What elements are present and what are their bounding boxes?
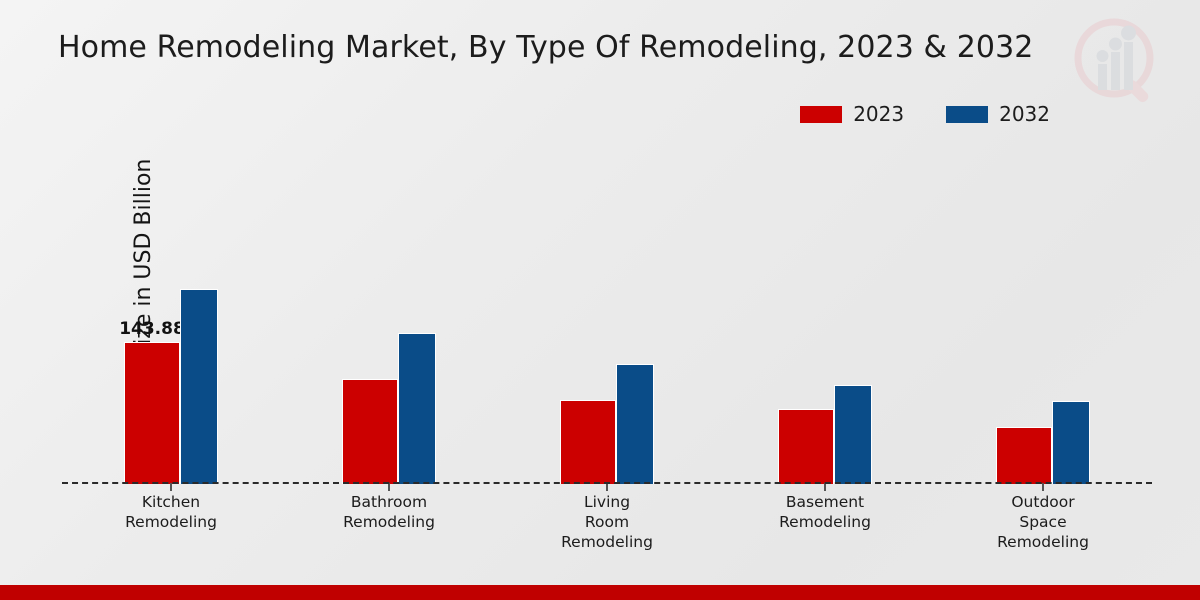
bar-2032-outdoor-space-remodeling[interactable] — [1052, 401, 1090, 484]
x-axis-tick — [606, 483, 608, 491]
x-label-line: Living — [498, 492, 716, 512]
legend-item-2023[interactable]: 2023 — [800, 102, 904, 126]
chart-legend: 2023 2032 — [800, 102, 1050, 126]
bar-group-living-room-remodeling — [498, 140, 716, 484]
bar-2023-bathroom-remodeling[interactable] — [342, 379, 398, 484]
legend-item-2032[interactable]: 2032 — [946, 102, 1050, 126]
x-label-line: Space — [934, 512, 1152, 532]
bar-2032-basement-remodeling[interactable] — [834, 385, 872, 484]
x-label-line: Remodeling — [62, 512, 280, 532]
bar-2023-living-room-remodeling[interactable] — [560, 400, 616, 484]
legend-swatch-2023 — [800, 106, 842, 123]
bar-2023-kitchen-remodeling[interactable]: 143.88 — [124, 342, 180, 484]
x-label-line: Room — [498, 512, 716, 532]
x-axis-tick — [170, 483, 172, 491]
bar-group-outdoor-space-remodeling — [934, 140, 1152, 484]
bar-2023-basement-remodeling[interactable] — [778, 409, 834, 484]
x-axis-label-kitchen-remodeling: Kitchen Remodeling — [62, 492, 280, 552]
x-axis-tick — [388, 483, 390, 491]
plot-area: 143.88 — [62, 140, 1152, 484]
x-axis-label-basement-remodeling: Basement Remodeling — [716, 492, 934, 552]
bar-2032-kitchen-remodeling[interactable] — [180, 289, 218, 484]
x-axis-tick — [1042, 483, 1044, 491]
x-label-line: Outdoor — [934, 492, 1152, 512]
x-label-line: Basement — [716, 492, 934, 512]
legend-label-2032: 2032 — [999, 102, 1050, 126]
footer-accent-bar — [0, 585, 1200, 600]
chart-title: Home Remodeling Market, By Type Of Remod… — [58, 30, 1033, 65]
x-axis-tick — [824, 483, 826, 491]
x-label-line: Remodeling — [716, 512, 934, 532]
legend-label-2023: 2023 — [853, 102, 904, 126]
bar-value-label-kitchen-2023: 143.88 — [119, 319, 185, 339]
watermark-logo-icon — [1062, 8, 1172, 118]
bar-group-kitchen-remodeling: 143.88 — [62, 140, 280, 484]
bar-groups: 143.88 — [62, 140, 1152, 484]
bar-2032-bathroom-remodeling[interactable] — [398, 333, 436, 484]
x-axis-label-outdoor-space-remodeling: Outdoor Space Remodeling — [934, 492, 1152, 552]
x-axis-baseline — [62, 482, 1152, 484]
x-label-line: Remodeling — [498, 532, 716, 552]
x-axis-label-bathroom-remodeling: Bathroom Remodeling — [280, 492, 498, 552]
x-label-line: Remodeling — [934, 532, 1152, 552]
legend-swatch-2032 — [946, 106, 988, 123]
x-label-line: Kitchen — [62, 492, 280, 512]
bar-group-bathroom-remodeling — [280, 140, 498, 484]
bar-group-basement-remodeling — [716, 140, 934, 484]
x-axis-label-living-room-remodeling: Living Room Remodeling — [498, 492, 716, 552]
x-label-line: Bathroom — [280, 492, 498, 512]
x-label-line: Remodeling — [280, 512, 498, 532]
bar-2023-outdoor-space-remodeling[interactable] — [996, 427, 1052, 484]
x-axis-labels: Kitchen Remodeling Bathroom Remodeling L… — [62, 492, 1152, 552]
bar-2032-living-room-remodeling[interactable] — [616, 364, 654, 484]
chart-canvas: Home Remodeling Market, By Type Of Remod… — [0, 0, 1200, 600]
